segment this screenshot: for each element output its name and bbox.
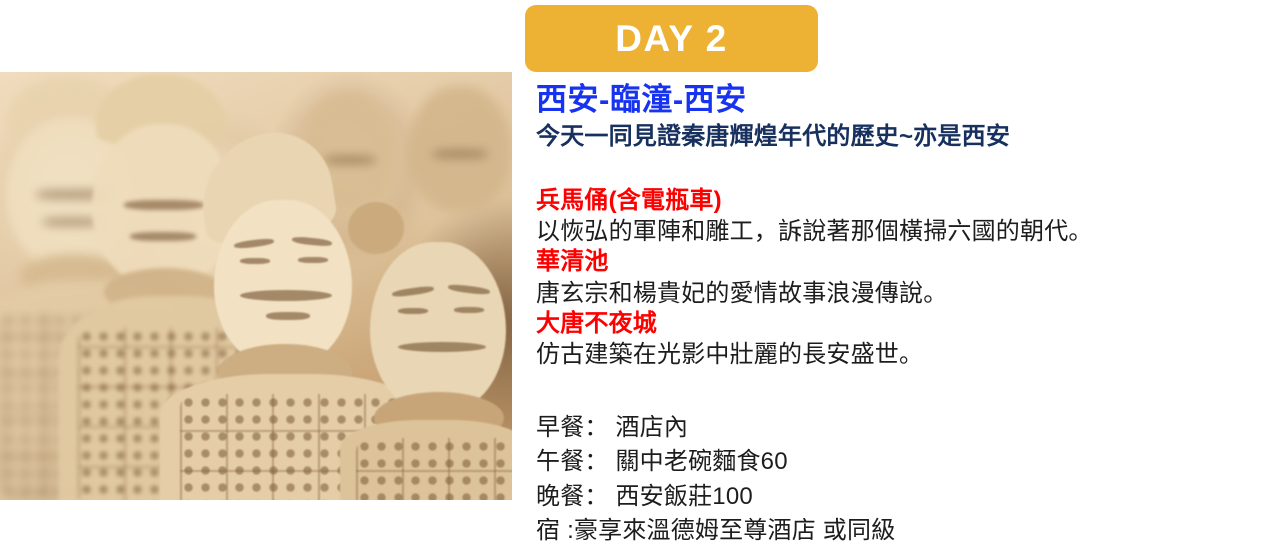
spot-description: 仿古建築在光影中壯麗的長安盛世。 [536, 339, 1276, 370]
spot-item: 大唐不夜城 仿古建築在光影中壯麗的長安盛世。 [536, 309, 1276, 370]
spot-item: 華清池 唐玄宗和楊貴妃的愛情故事浪漫傳說。 [536, 247, 1276, 308]
route-title: 西安-臨潼-西安 [536, 83, 747, 116]
day-itinerary-page: DAY 2 西安-臨潼-西安 今天一同見證秦唐輝煌年代的歷史~亦是西安 兵馬俑(… [0, 0, 1280, 543]
meal-row-breakfast: 早餐： 酒店內 [536, 411, 1276, 445]
spot-name: 華清池 [536, 247, 1276, 277]
spot-item: 兵馬俑(含電瓶車) 以恢弘的軍陣和雕工，訴說著那個橫掃六國的朝代。 [536, 186, 1276, 247]
day-badge-label: DAY 2 [615, 20, 727, 57]
meal-row-dinner: 晚餐： 西安飯莊100 [536, 480, 1276, 514]
meal-row-lunch: 午餐： 關中老碗麵食60 [536, 445, 1276, 479]
itinerary-content: DAY 2 西安-臨潼-西安 今天一同見證秦唐輝煌年代的歷史~亦是西安 兵馬俑(… [525, 0, 1280, 543]
route-subtitle: 今天一同見證秦唐輝煌年代的歷史~亦是西安 [536, 123, 1010, 151]
spot-name: 大唐不夜城 [536, 309, 1276, 339]
spot-list: 兵馬俑(含電瓶車) 以恢弘的軍陣和雕工，訴說著那個橫掃六國的朝代。 華清池 唐玄… [536, 186, 1276, 370]
meals-and-lodging: 早餐： 酒店內 午餐： 關中老碗麵食60 晚餐： 西安飯莊100 宿 :豪享來溫… [536, 411, 1276, 543]
spot-name: 兵馬俑(含電瓶車) [536, 186, 1276, 216]
day-badge: DAY 2 [525, 5, 818, 72]
spot-description: 唐玄宗和楊貴妃的愛情故事浪漫傳說。 [536, 278, 1276, 309]
meal-row-lodging: 宿 :豪享來溫德姆至尊酒店 或同級 [536, 514, 1276, 543]
spot-description: 以恢弘的軍陣和雕工，訴說著那個橫掃六國的朝代。 [536, 216, 1276, 247]
terracotta-warriors-photo [0, 72, 512, 500]
